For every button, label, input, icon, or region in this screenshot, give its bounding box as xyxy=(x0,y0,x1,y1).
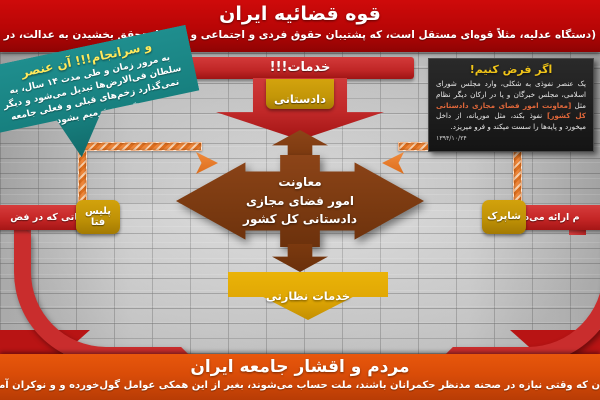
footer-subtitle: ن که وقتی نیازه در صحنه مدنظر حکمرانان ب… xyxy=(0,380,600,393)
core-label: معاونت امور فضای مجازی دادستانی کل کشور xyxy=(176,155,424,247)
core-label-line2: امور فضای مجازی xyxy=(246,192,354,211)
dark-callout-date: ۱۳۹۴/۱۰/۲۴ xyxy=(436,135,586,142)
page-title: قوه قضائیه ایران xyxy=(0,3,600,25)
footer-title: مردم و اقشار جامعه ایران xyxy=(0,357,600,377)
dark-callout-body: یک عنصر نفوذی به شکلی، وارد مجلس شورای ا… xyxy=(436,79,586,133)
node-police-fata: پلیس فتا xyxy=(76,200,120,234)
core-node: معاونت امور فضای مجازی دادستانی کل کشور xyxy=(176,155,424,247)
core-label-line1: معاونت xyxy=(278,173,321,192)
node-police-fata-line1: پلیس xyxy=(85,206,111,218)
node-shaparak: شاپرک xyxy=(482,200,526,234)
page-footer: مردم و اقشار جامعه ایران ن که وقتی نیازه… xyxy=(0,354,600,400)
infographic-stage: قوه قضائیه ایران (دستگاه عدلیه، مثلاً قو… xyxy=(0,0,600,400)
cable-left-horizontal xyxy=(78,142,202,151)
page-header: قوه قضائیه ایران (دستگاه عدلیه، مثلاً قو… xyxy=(0,0,600,52)
page-subtitle: (دستگاه عدلیه، مثلاً قوه‌ای مستقل است، ک… xyxy=(0,29,600,43)
dark-callout-title: اگر فرض کنیم! xyxy=(436,63,586,76)
prosecution-tab: دادستانی xyxy=(266,79,334,109)
services-bar-label: خدمات!!! xyxy=(186,57,414,79)
node-police-fata-line2: فتا xyxy=(91,217,105,229)
oversight-arrow-label: خدمات نظارتی xyxy=(228,289,388,303)
core-label-line3: دادستانی کل کشور xyxy=(243,210,357,229)
pipe-right-curve xyxy=(436,218,600,364)
dark-callout: اگر فرض کنیم! یک عنصر نفوذی به شکلی، وار… xyxy=(428,58,594,152)
node-shaparak-label: شاپرک xyxy=(487,211,521,223)
